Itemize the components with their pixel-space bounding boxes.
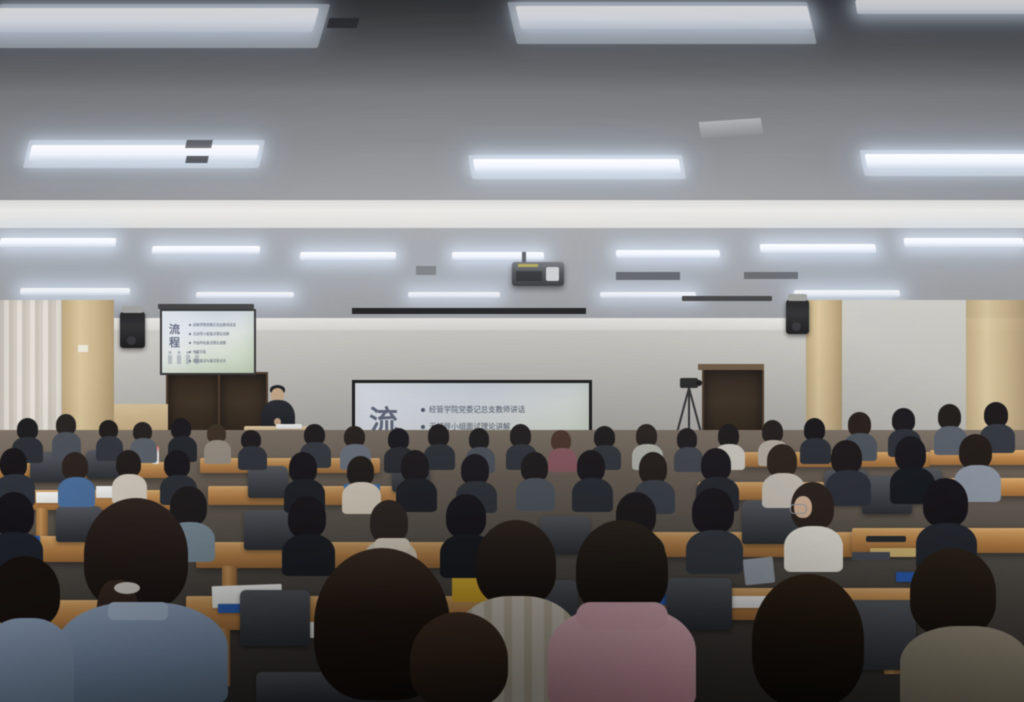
student-hair <box>370 500 408 543</box>
ceiling-fitting <box>185 156 208 163</box>
student-hair <box>752 574 864 702</box>
student-hair <box>923 478 968 527</box>
door-frame-right <box>698 364 764 370</box>
slide-bullet-text: 无领导小组面试理论讲解 <box>193 331 229 336</box>
ceiling-light-5 <box>473 159 681 173</box>
student-body <box>686 530 743 574</box>
ceiling-light-13 <box>903 238 1024 247</box>
slide-bullet-text: 半结构化面试理论讲解 <box>193 340 226 345</box>
speaker-cone <box>127 336 136 345</box>
student <box>784 482 842 568</box>
ceiling-projector <box>512 262 564 286</box>
tablet-device <box>852 552 890 560</box>
student <box>686 488 742 570</box>
student-hair <box>288 496 326 538</box>
student <box>58 452 94 504</box>
student-hair <box>0 492 34 536</box>
student-hair <box>959 434 992 469</box>
ceiling-light-10 <box>452 252 544 260</box>
student-body <box>784 526 843 572</box>
wall-speaker-left <box>120 312 145 348</box>
student-foreground-denim <box>56 498 226 702</box>
ceiling-light-9 <box>300 252 396 260</box>
projector-lens <box>546 267 559 281</box>
student-body <box>900 626 1024 702</box>
wall-speaker-right <box>786 300 809 334</box>
speaker-bracket <box>788 294 807 301</box>
student-hair <box>895 436 926 471</box>
student-hair <box>62 452 88 480</box>
student-hair <box>910 548 996 636</box>
slide-bullet-row: 经管学院党委记总支教师讲话 <box>421 401 525 418</box>
student <box>112 450 146 502</box>
eyeglasses-icon <box>790 504 807 514</box>
student-hair <box>116 450 141 477</box>
ceiling-rail <box>616 272 680 280</box>
ceiling-light-6 <box>864 154 1024 169</box>
slide-heading-left: 流程 <box>169 323 183 349</box>
ceiling-light-4 <box>28 145 260 161</box>
student-foreground-left-edge <box>0 556 72 702</box>
slide-bullet-text: 模拟面试与面试官点评 <box>193 358 226 363</box>
slide-bullet-text: 有奖问答 <box>193 349 206 354</box>
student-body <box>204 440 231 464</box>
denim-collar <box>108 602 168 620</box>
ceiling-light-14 <box>20 288 131 295</box>
lecture-hall-photo: 流程 经管学院党委记总支教师讲话 无领导小组面试理论讲解 半结构化面试理论讲解 … <box>0 0 1024 702</box>
student-body <box>0 618 74 702</box>
ceiling-light-7 <box>0 238 117 247</box>
student <box>238 430 266 468</box>
slide-bullet-text: 经管学院党委记总支教师讲话 <box>429 404 525 415</box>
student <box>52 414 80 456</box>
speaker-bracket <box>122 306 143 313</box>
left-side-projection-screen: 流程 经管学院党委记总支教师讲话 无领导小组面试理论讲解 半结构化面试理论讲解 … <box>160 309 256 375</box>
ceiling-light-8 <box>152 246 261 254</box>
student <box>516 452 554 508</box>
ceiling-rail <box>744 272 798 279</box>
student <box>572 450 612 508</box>
ceiling-light-16 <box>408 292 500 298</box>
student-hair <box>164 450 190 478</box>
hair-tie <box>114 582 140 594</box>
student-foreground-cream <box>380 612 540 702</box>
ceiling-light-11 <box>616 250 721 258</box>
ceiling-light-15 <box>196 292 294 298</box>
screen-top-rail <box>352 308 586 314</box>
hoodie-hood <box>576 602 668 630</box>
bullet-marker-icon <box>421 408 425 412</box>
ceiling-vent <box>327 18 360 28</box>
student-body <box>516 478 555 511</box>
student-foreground-pink-hoodie <box>548 520 694 702</box>
student-foreground-right <box>736 574 878 702</box>
projector-vent <box>516 271 542 281</box>
student <box>204 424 230 462</box>
ceiling-light-2 <box>515 6 812 29</box>
slide-bullet-text: 经管学院党委记总支教师讲话 <box>193 322 236 327</box>
camera-lens-icon <box>696 380 702 386</box>
speaker-cone <box>792 322 801 331</box>
student-body <box>238 446 267 470</box>
wall-switch-plate <box>78 345 88 352</box>
pen-case <box>866 536 906 542</box>
ceiling-fitting <box>185 140 213 148</box>
student-hair <box>476 520 556 606</box>
slide-bullets-left: 经管学院党委记总支教师讲话 无领导小组面试理论讲解 半结构化面试理论讲解 有奖问… <box>189 320 236 365</box>
ceiling-light-18 <box>794 290 901 297</box>
ceiling-grille <box>416 266 436 275</box>
student-hair <box>410 612 508 702</box>
screen-case-right <box>682 296 772 301</box>
student-foreground-far-right <box>900 548 1024 702</box>
student-hair <box>831 440 862 474</box>
projector-label <box>518 264 538 267</box>
ceiling-soffit-beam <box>0 200 1024 230</box>
ceiling-light-1 <box>0 8 319 32</box>
ceiling-light-3 <box>855 0 1024 14</box>
classroom-chair <box>248 466 288 498</box>
student-hair <box>692 488 734 534</box>
lectern-paper <box>276 424 302 429</box>
ceiling-light-12 <box>759 244 876 253</box>
student-body <box>572 478 613 512</box>
